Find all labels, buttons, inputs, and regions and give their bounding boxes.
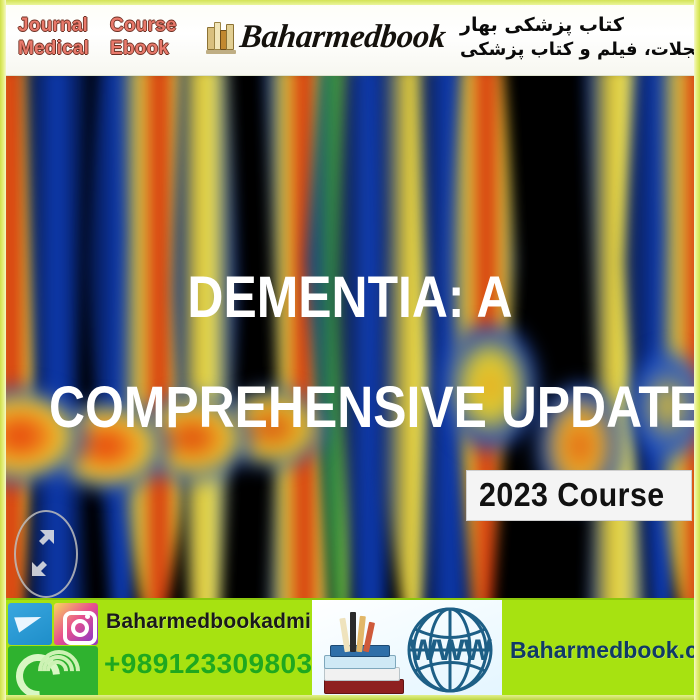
- keyword-course: Course: [110, 15, 188, 37]
- instagram-lens-glyph: [71, 619, 89, 637]
- site-footer: Baharmedbookadmin +989123309803: [0, 598, 700, 700]
- keyword-row-1: Journal Course: [18, 15, 200, 37]
- pencils-icon: [340, 610, 376, 652]
- header-keyword-block: Journal Course Medical Ebook: [0, 15, 200, 59]
- header-persian-block: کتاب پزشکی بهار مجلات، فیلم و کتاب پزشکی: [460, 13, 700, 61]
- instagram-icon[interactable]: [54, 603, 98, 645]
- www-label: WWW: [406, 634, 494, 668]
- footer-illustration: WWW: [312, 600, 502, 700]
- keyword-medical: Medical: [18, 38, 96, 60]
- expand-arrows-icon[interactable]: [14, 510, 78, 598]
- footer-contact-block: Baharmedbookadmin +989123309803: [0, 600, 312, 700]
- persian-subtitle-line: مجلات، فیلم و کتاب پزشکی: [460, 38, 700, 61]
- phone-number-text[interactable]: +989123309803: [104, 648, 324, 680]
- website-url-text[interactable]: Baharmedbook.com: [510, 637, 700, 664]
- scan-warm-region-left: [0, 376, 380, 526]
- whatsapp-phone-icon[interactable]: [8, 646, 98, 698]
- poster-root: Journal Course Medical Ebook Baharmedboo…: [0, 0, 700, 700]
- keyword-row-2: Medical Ebook: [18, 38, 200, 60]
- brand-logo[interactable]: Baharmedbook: [200, 19, 460, 56]
- telegram-icon[interactable]: [8, 603, 52, 645]
- instagram-dot-glyph: [85, 614, 90, 619]
- site-header: Journal Course Medical Ebook Baharmedboo…: [0, 0, 700, 76]
- admin-handle-text[interactable]: Baharmedbookadmin: [106, 610, 324, 634]
- keyword-journal: Journal: [18, 15, 96, 37]
- persian-title-line: کتاب پزشکی بهار: [460, 13, 624, 38]
- footer-website-block: Baharmedbook.com: [502, 600, 700, 700]
- course-year-badge-label: 2023 Course: [479, 476, 665, 514]
- paper-plane-glyph: [14, 609, 44, 632]
- brand-name-text: Baharmedbook: [238, 19, 447, 56]
- keyword-ebook: Ebook: [110, 38, 188, 60]
- course-year-badge: 2023 Course: [466, 470, 692, 521]
- brain-scan-image: DEMENTIA: A COMPREHENSIVE UPDATE 2023 Co…: [0, 76, 700, 598]
- contact-text-column: Baharmedbookadmin +989123309803: [100, 600, 324, 700]
- social-icon-column: [0, 600, 100, 700]
- books-icon: [206, 21, 236, 55]
